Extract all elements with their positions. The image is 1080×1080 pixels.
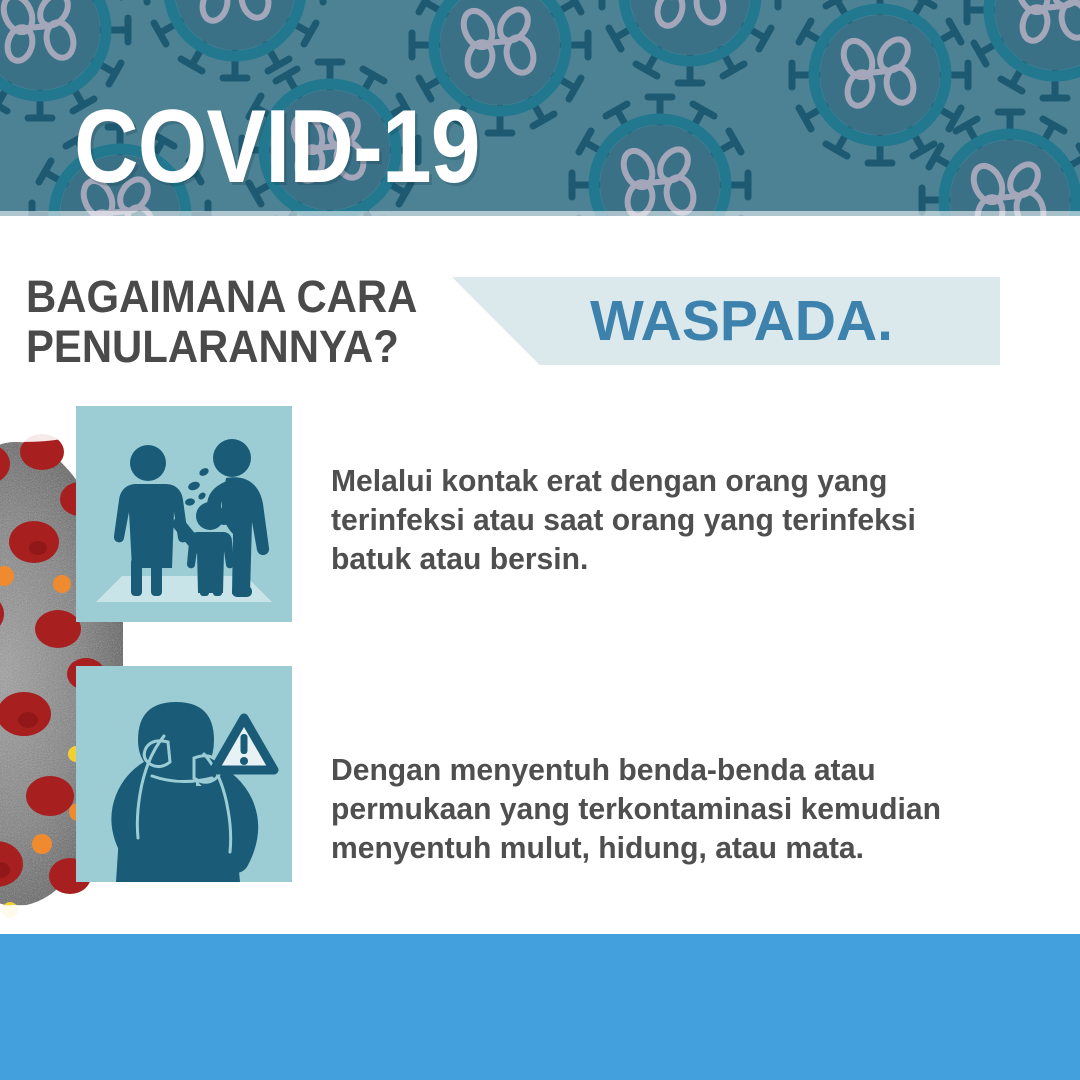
transmission-text-2: Dengan menyentuh benda-benda atau permuk… [331,750,991,867]
people-coughing-icon [76,406,292,622]
question-heading: BAGAIMANA CARA PENULARANNYA? [26,272,426,372]
footer-bar: World Health Organization Indonesia WASP… [0,934,1080,1080]
covid19-transmission-poster: COVID-19 WASPADA. BAGAIMANA CARA PENULAR… [0,0,1080,1080]
waspada-label: WASPADA. [590,288,1010,354]
transmission-text-1: Melalui kontak erat dengan orang yang te… [331,461,971,578]
page-title: COVID-19 [74,95,480,199]
touching-face-graphic [76,666,292,882]
header-banner: COVID-19 [0,0,1080,216]
touching-face-warning-icon [76,666,292,882]
people-coughing-graphic [76,406,292,622]
